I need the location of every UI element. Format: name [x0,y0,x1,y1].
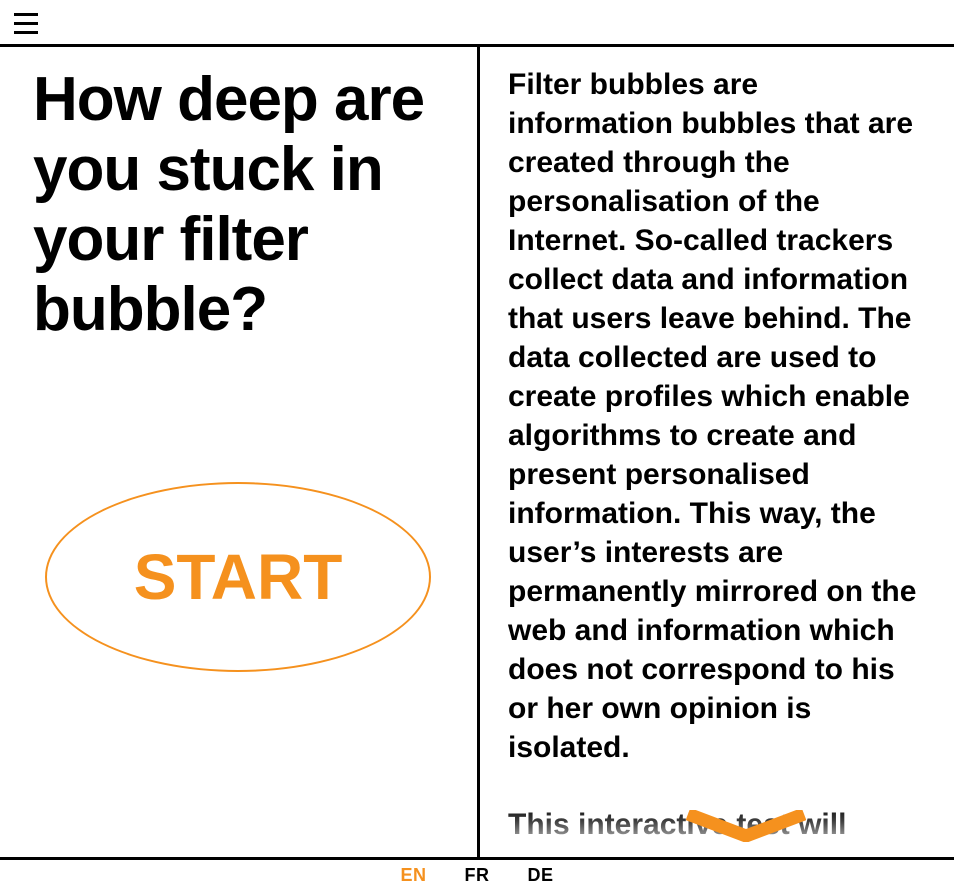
chevron-down-icon[interactable] [686,810,806,842]
page-title: How deep are you stuck in your filter bu… [33,65,433,345]
language-switcher: EN FR DE [0,860,954,890]
hamburger-menu-icon[interactable] [14,12,38,34]
start-button-label: START [134,545,343,609]
page-root: How deep are you stuck in your filter bu… [0,0,954,890]
language-option-de[interactable]: DE [526,865,556,886]
right-panel-text: Filter bubbles are information bubbles t… [508,65,920,844]
left-panel: How deep are you stuck in your filter bu… [0,47,477,857]
top-header-bar [0,0,954,46]
language-option-fr[interactable]: FR [463,865,492,886]
content-columns: How deep are you stuck in your filter bu… [0,47,954,857]
intro-paragraph: Filter bubbles are information bubbles t… [508,65,920,767]
right-panel: Filter bubbles are information bubbles t… [480,47,954,857]
start-button-area: START [45,482,431,672]
bottom-language-bar: EN FR DE [0,857,954,890]
hamburger-bar [14,22,38,25]
start-button[interactable]: START [45,482,431,672]
hamburger-bar [14,31,38,34]
language-option-en[interactable]: EN [398,865,428,886]
hamburger-bar [14,13,38,16]
